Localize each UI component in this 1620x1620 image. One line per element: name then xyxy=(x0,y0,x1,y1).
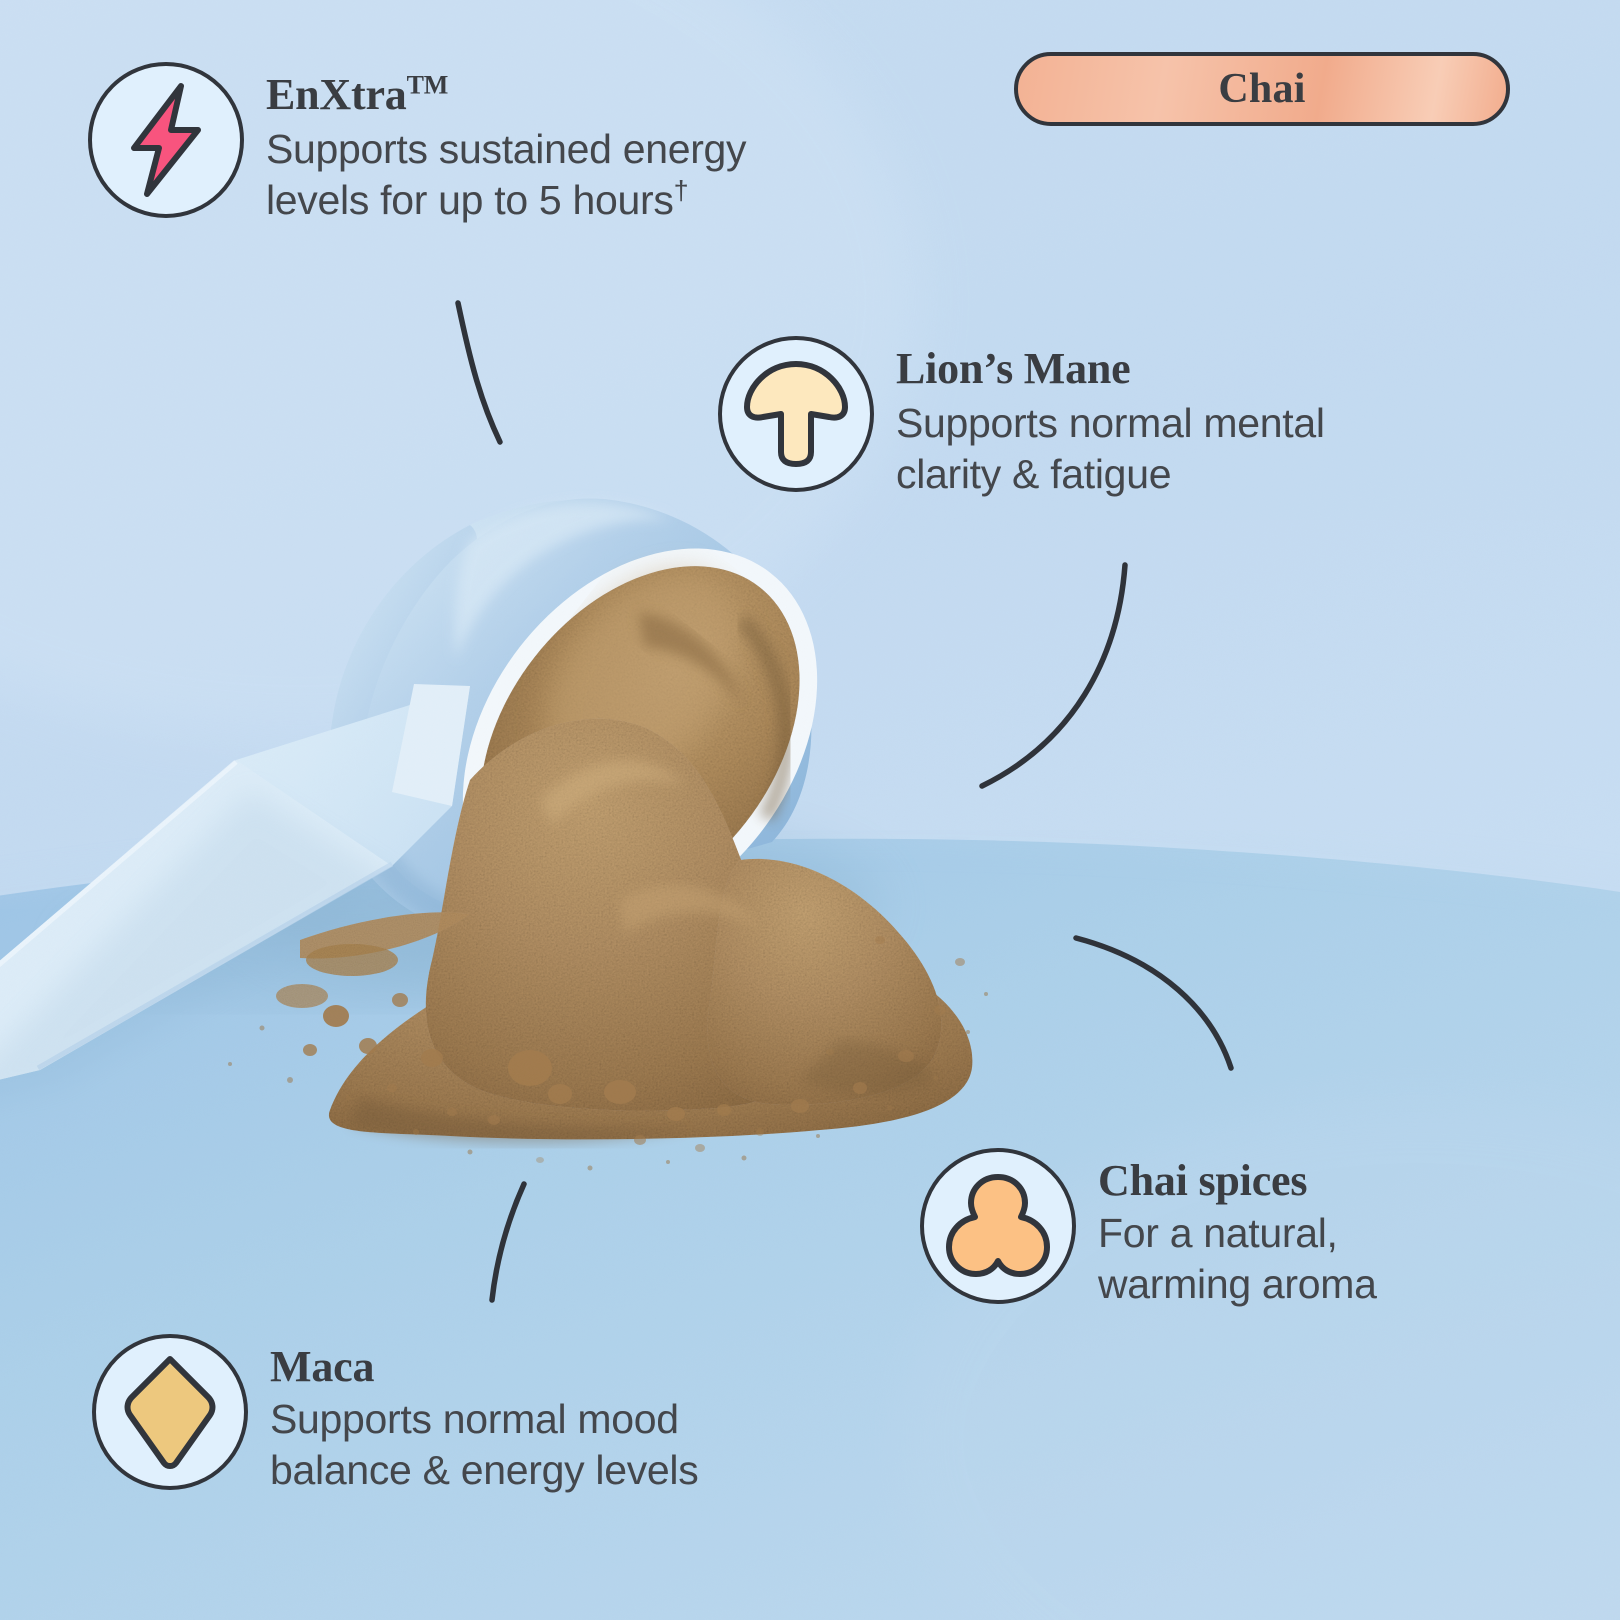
icon-badge-chaispices xyxy=(920,1148,1076,1304)
infographic-canvas: Chai EnXtraTM Supports sustained energy … xyxy=(0,0,1620,1620)
trademark-symbol: TM xyxy=(407,70,448,99)
dagger-symbol: † xyxy=(674,176,689,206)
callout-enxtra: EnXtraTM Supports sustained energy level… xyxy=(88,62,746,227)
lightning-bolt-icon xyxy=(118,82,214,198)
callout-lionsmane: Lion’s Mane Supports normal mental clari… xyxy=(718,336,1325,501)
callout-desc-lionsmane: Supports normal mental clarity & fatigue xyxy=(896,398,1325,501)
callout-text-maca: Maca Supports normal mood balance & ener… xyxy=(270,1334,698,1497)
callout-text-enxtra: EnXtraTM Supports sustained energy level… xyxy=(266,62,746,227)
callout-title-lionsmane: Lion’s Mane xyxy=(896,346,1325,392)
icon-badge-lionsmane xyxy=(718,336,874,492)
icon-badge-enxtra xyxy=(88,62,244,218)
maca-root-icon xyxy=(122,1353,218,1471)
icon-badge-maca xyxy=(92,1334,248,1490)
callout-title-enxtra: EnXtraTM xyxy=(266,72,746,118)
callout-chaispices: Chai spices For a natural, warming aroma xyxy=(920,1148,1377,1311)
callout-title-chaispices: Chai spices xyxy=(1098,1158,1377,1204)
callout-text-lionsmane: Lion’s Mane Supports normal mental clari… xyxy=(896,336,1325,501)
callout-desc-maca: Supports normal mood balance & energy le… xyxy=(270,1394,698,1497)
callout-desc-chaispices: For a natural, warming aroma xyxy=(1098,1208,1377,1311)
callout-title-maca: Maca xyxy=(270,1344,698,1390)
callout-desc-enxtra: Supports sustained energy levels for up … xyxy=(266,124,746,227)
flavor-badge[interactable]: Chai xyxy=(1014,52,1510,126)
clover-spices-icon xyxy=(944,1172,1052,1280)
callout-text-chaispices: Chai spices For a natural, warming aroma xyxy=(1098,1148,1377,1311)
flavor-badge-label: Chai xyxy=(1218,65,1305,113)
mushroom-icon xyxy=(741,358,851,470)
callout-maca: Maca Supports normal mood balance & ener… xyxy=(92,1334,698,1497)
